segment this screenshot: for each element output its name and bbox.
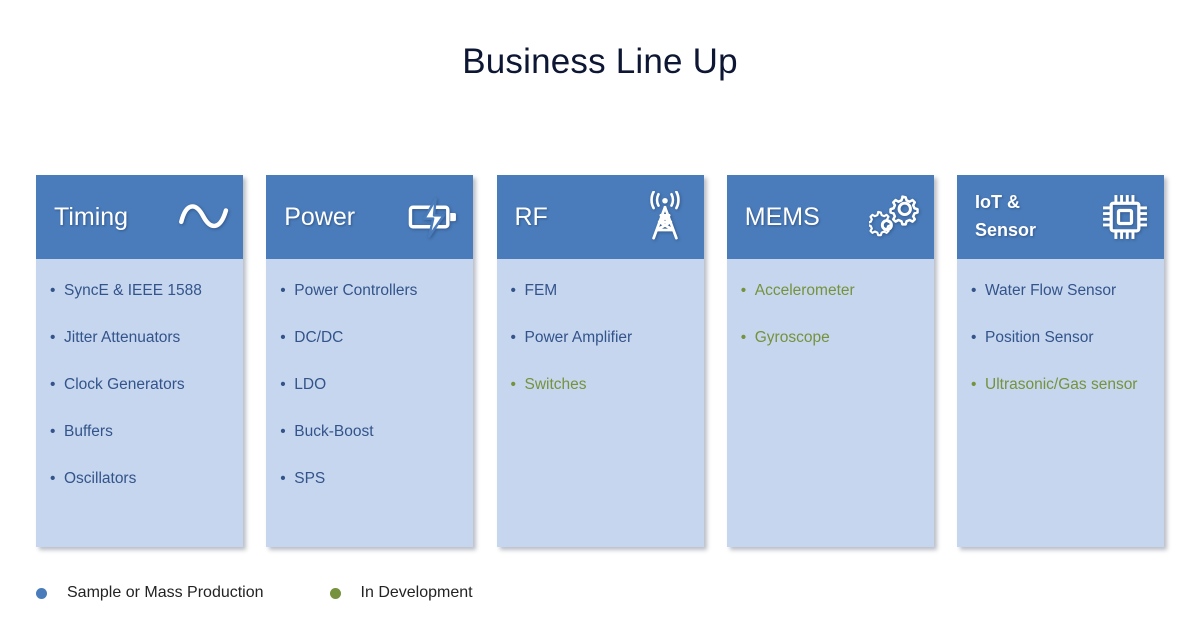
legend-dot-icon: [330, 588, 341, 599]
list-item-label: SPS: [294, 468, 463, 490]
list-item-label: Power Amplifier: [525, 327, 694, 349]
product-card: RF•FEM•Power Amplifier•Switches: [497, 175, 704, 547]
list-item-label: Buffers: [64, 421, 233, 443]
antenna-tower-icon: [639, 191, 691, 243]
list-item-label: Power Controllers: [294, 280, 463, 302]
bullet-icon: •: [280, 468, 294, 490]
product-card: MEMS•Accelerometer•Gyroscope: [727, 175, 934, 547]
bullet-icon: •: [741, 280, 755, 302]
list-item-label: Water Flow Sensor: [985, 280, 1154, 302]
card-body: •Power Controllers•DC/DC•LDO•Buck-Boost•…: [266, 259, 473, 547]
list-item: •Accelerometer: [741, 280, 924, 302]
legend-label: In Development: [361, 584, 473, 602]
legend-entry: Sample or Mass Production: [36, 584, 264, 602]
product-card: Power•Power Controllers•DC/DC•LDO•Buck-B…: [266, 175, 473, 547]
bullet-icon: •: [511, 374, 525, 396]
list-item-label: Position Sensor: [985, 327, 1154, 349]
legend-label: Sample or Mass Production: [67, 584, 264, 602]
legend-dot-icon: [36, 588, 47, 599]
list-item: •Clock Generators: [50, 374, 233, 396]
list-item: •Buck-Boost: [280, 421, 463, 443]
slide-title: Business Line Up: [0, 42, 1200, 82]
list-item: •Power Amplifier: [511, 327, 694, 349]
card-header: Timing: [36, 175, 243, 259]
bullet-icon: •: [280, 374, 294, 396]
list-item: •SyncE & IEEE 1588: [50, 280, 233, 302]
list-item: •Switches: [511, 374, 694, 396]
bullet-icon: •: [741, 327, 755, 349]
list-item-label: Buck-Boost: [294, 421, 463, 443]
list-item: •SPS: [280, 468, 463, 490]
list-item: •FEM: [511, 280, 694, 302]
product-card: Timing•SyncE & IEEE 1588•Jitter Attenuat…: [36, 175, 243, 547]
list-item: •Ultrasonic/Gas sensor: [971, 374, 1154, 396]
bullet-icon: •: [511, 280, 525, 302]
card-body: •SyncE & IEEE 1588•Jitter Attenuators•Cl…: [36, 259, 243, 547]
list-item-label: Ultrasonic/Gas sensor: [985, 374, 1154, 396]
bullet-icon: •: [971, 280, 985, 302]
list-item-label: Clock Generators: [64, 374, 233, 396]
bullet-icon: •: [50, 468, 64, 490]
card-header: Power: [266, 175, 473, 259]
card-title: IoT & Sensor: [975, 189, 1036, 245]
bullet-icon: •: [50, 374, 64, 396]
legend: Sample or Mass ProductionIn Development: [36, 584, 473, 602]
list-item: •Oscillators: [50, 468, 233, 490]
card-body: •Water Flow Sensor•Position Sensor•Ultra…: [957, 259, 1164, 547]
bullet-icon: •: [280, 280, 294, 302]
battery-charging-icon: [408, 191, 460, 243]
list-item: •DC/DC: [280, 327, 463, 349]
product-card: IoT & Sensor•Water Flow Sensor•Position …: [957, 175, 1164, 547]
card-body: •Accelerometer•Gyroscope: [727, 259, 934, 547]
gears-icon: [869, 191, 921, 243]
card-header: IoT & Sensor: [957, 175, 1164, 259]
bullet-icon: •: [280, 421, 294, 443]
card-body: •FEM•Power Amplifier•Switches: [497, 259, 704, 547]
bullet-icon: •: [50, 327, 64, 349]
list-item-label: Oscillators: [64, 468, 233, 490]
sine-wave-icon: [178, 191, 230, 243]
legend-entry: In Development: [330, 584, 473, 602]
bullet-icon: •: [50, 280, 64, 302]
card-title: Power: [284, 203, 355, 231]
list-item-label: LDO: [294, 374, 463, 396]
business-line-up-card-row: Timing•SyncE & IEEE 1588•Jitter Attenuat…: [36, 175, 1164, 547]
list-item: •Power Controllers: [280, 280, 463, 302]
list-item: •Buffers: [50, 421, 233, 443]
list-item-label: Switches: [525, 374, 694, 396]
list-item: •Position Sensor: [971, 327, 1154, 349]
card-title: Timing: [54, 203, 128, 231]
card-header: MEMS: [727, 175, 934, 259]
list-item-label: DC/DC: [294, 327, 463, 349]
list-item-label: FEM: [525, 280, 694, 302]
bullet-icon: •: [280, 327, 294, 349]
list-item-label: Accelerometer: [755, 280, 924, 302]
list-item: •Gyroscope: [741, 327, 924, 349]
card-title: MEMS: [745, 203, 820, 231]
list-item-label: SyncE & IEEE 1588: [64, 280, 233, 302]
list-item: •LDO: [280, 374, 463, 396]
card-header: RF: [497, 175, 704, 259]
bullet-icon: •: [971, 327, 985, 349]
bullet-icon: •: [511, 327, 525, 349]
microchip-icon: [1099, 191, 1151, 243]
bullet-icon: •: [50, 421, 64, 443]
list-item-label: Gyroscope: [755, 327, 924, 349]
bullet-icon: •: [971, 374, 985, 396]
card-title: RF: [515, 203, 548, 231]
list-item: •Water Flow Sensor: [971, 280, 1154, 302]
list-item-label: Jitter Attenuators: [64, 327, 233, 349]
list-item: •Jitter Attenuators: [50, 327, 233, 349]
